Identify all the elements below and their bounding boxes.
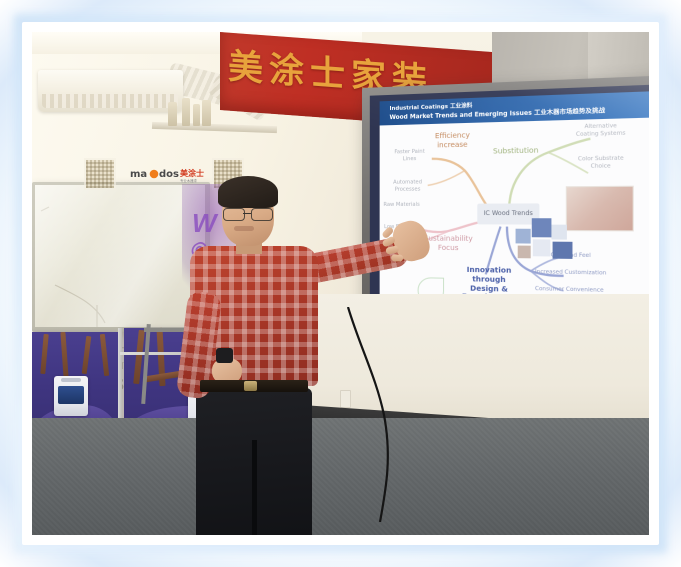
slide-color-blocks <box>516 218 575 263</box>
mindmap-leaf-2: Alternative Coating Systems <box>575 123 627 138</box>
presenter-remote[interactable] <box>216 348 233 363</box>
qr-code-left-icon <box>84 158 116 190</box>
paint-bucket-left <box>54 376 88 416</box>
air-conditioner-vents <box>42 94 178 108</box>
presenter-hair <box>218 176 278 208</box>
presenter <box>160 172 390 535</box>
belt-buckle <box>244 381 257 391</box>
svg-text:ma: ma <box>130 169 147 180</box>
glasses-icon <box>223 208 273 220</box>
photograph: 美涂士家装 Industrial Coatings 工业涂料 Wood Mark… <box>32 32 649 535</box>
mindmap-branch-1: Substitution <box>486 146 546 156</box>
trouser-leg-split <box>252 440 257 535</box>
shelf-bottle-4 <box>202 100 211 126</box>
photo-frame: 美涂士家装 Industrial Coatings 工业涂料 Wood Mark… <box>0 0 681 567</box>
shelf-bottle-2 <box>182 98 190 126</box>
mindmap-leaf-0: Faster Paint Lines <box>390 149 430 163</box>
shelf-bottle-1 <box>168 102 177 126</box>
slide-inset-photo <box>566 186 634 232</box>
mindmap-leaf-3: Color Substrate Choice <box>577 155 625 170</box>
mindmap-branch-0: Efficiency increase <box>424 131 482 150</box>
shelf-bottle-3 <box>193 104 200 126</box>
presenter-mouth <box>234 226 254 231</box>
